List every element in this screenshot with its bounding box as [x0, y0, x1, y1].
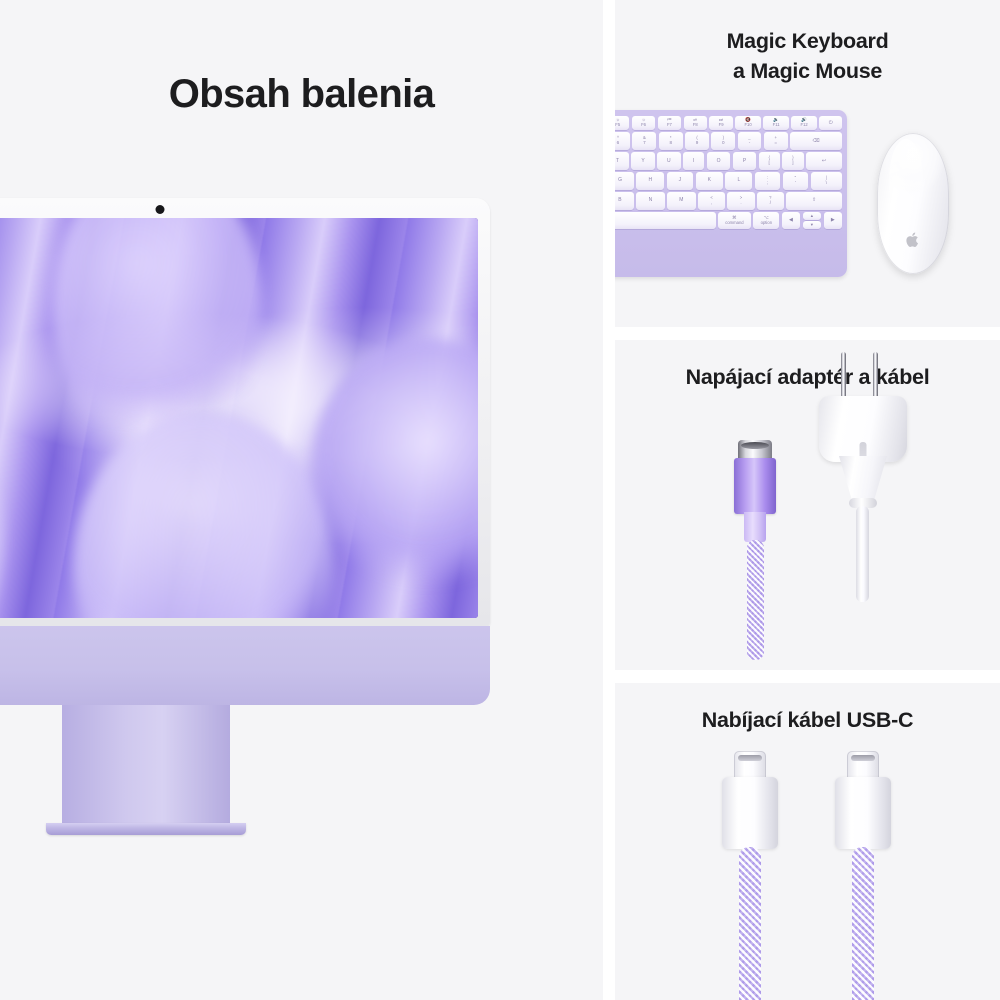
key: "' [783, 172, 809, 190]
key-return: ↩ [806, 152, 842, 170]
usb-c-connector-right [832, 751, 894, 1000]
key: P [733, 152, 756, 170]
imac-chin [0, 626, 490, 705]
magsafe-strain-relief [744, 512, 766, 542]
magsafe-contact-ring [738, 440, 772, 460]
imac-stand-neck [62, 705, 230, 825]
key-glyph: / [770, 201, 771, 206]
key: ?/ [757, 192, 784, 210]
key: |\ [811, 172, 842, 190]
key: M [667, 192, 696, 210]
plug-head [819, 396, 907, 462]
key-glyph: ] [792, 161, 793, 166]
key-sub: option [761, 221, 772, 225]
key: ^6 [615, 132, 630, 150]
key: :; [755, 172, 780, 190]
usb-c-cable-image [615, 683, 1000, 1000]
magic-mouse-image [877, 133, 949, 274]
key: B [615, 192, 634, 210]
key: )0 [711, 132, 735, 150]
packaging-contents-page: Obsah balenia Magic Keyboard a Magic Mou… [0, 0, 1000, 1000]
key-space [615, 212, 716, 230]
panel-box-contents: Obsah balenia [0, 0, 603, 1000]
key-glyph: [ [769, 161, 770, 166]
key-glyph: 9 [696, 141, 699, 146]
key-delete: ⌫ [790, 132, 842, 150]
key: {[ [759, 152, 780, 170]
key: ☼F5 [615, 116, 629, 130]
key: H [636, 172, 664, 190]
magic-keyboard-image: ☼F5 ☼F6 ⏮F7 ⏯F8 ⏭F9 🔇F10 🔉F11 🔊F12 ⏻ ^6 … [615, 110, 847, 277]
key-glyph: ⇧ [812, 198, 816, 203]
key: (9 [685, 132, 709, 150]
imac-display [0, 218, 478, 618]
apple-logo-icon [906, 231, 921, 249]
usb-c-cable-braid [739, 847, 761, 1000]
key-glyph: ⌫ [813, 139, 820, 144]
panel-power-adapter: Napájací adaptér a kábel [615, 340, 1000, 670]
key-glyph: ; [767, 181, 768, 186]
key-glyph: ▶ [831, 218, 835, 223]
key-sub: F7 [667, 123, 672, 127]
key-glyph: N [649, 198, 653, 203]
usb-c-housing [722, 777, 778, 849]
key-glyph: H [648, 178, 652, 183]
keyboard-row-bottom-letters: B N M <, >. ?/ ⇧ [615, 192, 842, 210]
key: &7 [632, 132, 656, 150]
imac-enclosure [0, 198, 490, 626]
key: J [667, 172, 694, 190]
key-glyph: O [717, 159, 721, 164]
key: L [725, 172, 752, 190]
key-glyph: - [749, 141, 751, 146]
panel-title-line-2: a Magic Mouse [615, 56, 1000, 86]
key-glyph: B [618, 198, 621, 203]
keyboard-row-modifiers: ⌘command ⌥option ◀ ▲ ▼ ▶ [615, 212, 842, 230]
key-glyph: G [618, 178, 622, 183]
key-glyph: ' [795, 181, 796, 186]
key-arrow-right: ▶ [824, 212, 842, 230]
imac-product-image [0, 198, 490, 828]
key: 🔇F10 [735, 116, 761, 130]
imac-camera-icon [156, 205, 165, 214]
key-glyph: 0 [722, 141, 725, 146]
key: ⏭F9 [709, 116, 732, 130]
keyboard-row-home: G H J K L :; "' |\ [615, 172, 842, 190]
key-glyph: 6 [617, 141, 620, 146]
key-sub: F5 [615, 123, 620, 127]
key: ☼F6 [632, 116, 655, 130]
key: *8 [659, 132, 683, 150]
key-sub: F8 [693, 123, 698, 127]
key-glyph: 8 [669, 141, 672, 146]
key-arrow-up: ▲ [803, 212, 822, 220]
key-arrow-left: ◀ [782, 212, 800, 230]
key: }] [782, 152, 803, 170]
panel-title-line-1: Magic Keyboard [615, 26, 1000, 56]
key-glyph: , [711, 201, 712, 206]
key: += [764, 132, 788, 150]
usb-c-tip [847, 751, 879, 779]
usb-c-cable-braid [852, 847, 874, 1000]
key-glyph: 7 [643, 141, 646, 146]
page-title: Obsah balenia [0, 72, 603, 117]
key: ⏮F7 [658, 116, 681, 130]
key-sub: F12 [801, 123, 808, 127]
key: <, [698, 192, 725, 210]
key-glyph: ↩ [822, 159, 826, 164]
keyboard-rows: ☼F5 ☼F6 ⏮F7 ⏯F8 ⏭F9 🔇F10 🔉F11 🔊F12 ⏻ ^6 … [615, 116, 842, 271]
plug-taper [839, 456, 887, 502]
key: ⏯F8 [684, 116, 707, 130]
usb-c-housing [835, 777, 891, 849]
key: _- [738, 132, 762, 150]
key: O [707, 152, 731, 170]
key: N [636, 192, 664, 210]
key-arrow-down: ▼ [803, 221, 822, 229]
key: U [657, 152, 681, 170]
key-glyph: P [743, 159, 746, 164]
key-sub: F9 [719, 123, 724, 127]
key: I [683, 152, 704, 170]
keyboard-row-function: ☼F5 ☼F6 ⏮F7 ⏯F8 ⏭F9 🔇F10 🔉F11 🔊F12 ⏻ [615, 116, 842, 130]
key-glyph: . [740, 201, 741, 206]
key-glyph: Y [641, 159, 644, 164]
key: >. [727, 192, 754, 210]
key-sub: command [725, 221, 743, 225]
panel-keyboard-mouse-title: Magic Keyboard a Magic Mouse [615, 26, 1000, 86]
panel-usb-c-cable: Nabíjací kábel USB-C [615, 683, 1000, 1000]
usb-c-tip [734, 751, 766, 779]
power-adapter-image [615, 340, 1000, 670]
key-glyph: K [708, 178, 711, 183]
power-cable-braid [747, 540, 764, 660]
key: 🔊F12 [791, 116, 817, 130]
imac-stand-base [46, 823, 246, 835]
key-glyph: U [667, 159, 671, 164]
key-arrow-updown-stack: ▲ ▼ [803, 212, 822, 230]
key-glyph: J [679, 178, 682, 183]
key-sub: F6 [641, 123, 646, 127]
key: Y [631, 152, 654, 170]
key: G [615, 172, 634, 190]
keyboard-row-numbers: ^6 &7 *8 (9 )0 _- += ⌫ [615, 132, 842, 150]
key-option: ⌥option [753, 212, 779, 230]
panel-keyboard-mouse: Magic Keyboard a Magic Mouse ☼F5 ☼F6 ⏮F7… [615, 0, 1000, 327]
plug-cord [856, 506, 869, 602]
key-glyph: T [616, 159, 619, 164]
key-sub: F11 [773, 123, 780, 127]
key-glyph: \ [826, 181, 827, 186]
key-glyph: ⏻ [829, 121, 833, 126]
europlug [811, 352, 941, 600]
usb-c-connector-left [719, 751, 781, 1000]
key-sub: F10 [745, 123, 752, 127]
key: K [696, 172, 723, 190]
key: T [615, 152, 629, 170]
key-glyph: I [693, 159, 694, 164]
key-command: ⌘command [718, 212, 751, 230]
key: 🔉F11 [763, 116, 788, 130]
key-power: ⏻ [819, 116, 842, 130]
magsafe-housing [734, 458, 776, 514]
key-glyph: L [737, 178, 740, 183]
key-glyph: = [774, 141, 777, 146]
key-glyph: ◀ [789, 218, 793, 223]
key-glyph: M [679, 198, 683, 203]
keyboard-row-qwerty: T Y U I O P {[ }] ↩ [615, 152, 842, 170]
key-shift: ⇧ [786, 192, 842, 210]
